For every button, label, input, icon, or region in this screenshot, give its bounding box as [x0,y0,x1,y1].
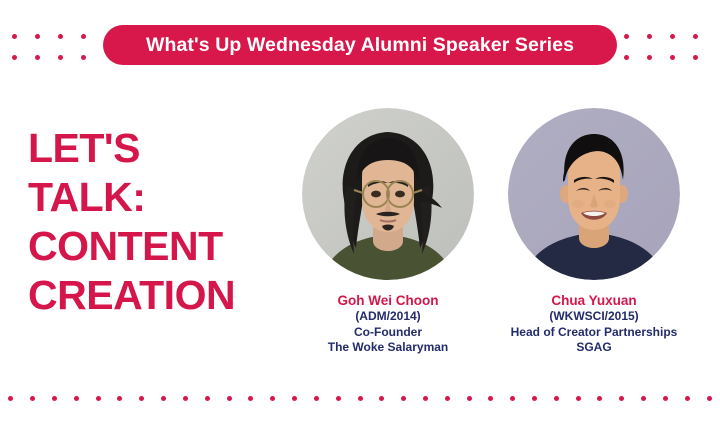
banner-pill: What's Up Wednesday Alumni Speaker Serie… [103,25,617,65]
speaker-list: Goh Wei Choon (ADM/2014) Co-Founder The … [290,108,700,368]
decorative-dot [8,396,13,401]
decorative-dot [30,396,35,401]
decorative-dot [227,396,232,401]
decorative-dot [183,396,188,401]
decorative-dot [576,396,581,401]
page-title: LET'S TALK: CONTENT CREATION [28,124,288,320]
decorative-dot [161,396,166,401]
decorative-dot [488,396,493,401]
decorative-dot [670,55,675,60]
decorative-dot [685,396,690,401]
decorative-dot [58,55,63,60]
dot-row-bottom [0,396,720,408]
speaker-card-2: Chua Yuxuan (WKWSCI/2015) Head of Creato… [496,108,692,356]
decorative-dot [12,55,17,60]
decorative-dot [117,396,122,401]
decorative-dot [624,34,629,39]
headline-line-4: CREATION [28,271,288,320]
decorative-dot [619,396,624,401]
decorative-dot [74,396,79,401]
decorative-dot [670,34,675,39]
decorative-dot [12,34,17,39]
decorative-dot [52,396,57,401]
decorative-dot [597,396,602,401]
decorative-dot [358,396,363,401]
decorative-dot [532,396,537,401]
decorative-dot [693,55,698,60]
decorative-dot [58,34,63,39]
decorative-dot [96,396,101,401]
speaker-affiliation-2: (WKWSCI/2015) [496,309,692,325]
avatar-chua-yuxuan [508,108,680,280]
speaker-affiliation-1: (ADM/2014) [290,309,486,325]
decorative-dot [647,55,652,60]
decorative-dot [81,55,86,60]
decorative-dot [35,34,40,39]
decorative-dot [139,396,144,401]
decorative-dot [423,396,428,401]
headline-line-1: LET'S [28,124,288,173]
speaker-caption-2: Chua Yuxuan (WKWSCI/2015) Head of Creato… [496,292,692,356]
decorative-dot [336,396,341,401]
decorative-dot [445,396,450,401]
speaker-organisation-1: The Woke Salaryman [290,340,486,356]
decorative-dot [401,396,406,401]
speaker-name-1: Goh Wei Choon [290,292,486,309]
headline-line-2: TALK: [28,173,288,222]
decorative-dot [205,396,210,401]
speaker-caption-1: Goh Wei Choon (ADM/2014) Co-Founder The … [290,292,486,356]
decorative-dot [292,396,297,401]
decorative-dot [314,396,319,401]
decorative-dot [467,396,472,401]
speaker-organisation-2: SGAG [496,340,692,356]
decorative-dot [663,396,668,401]
speaker-name-2: Chua Yuxuan [496,292,692,309]
banner-title: What's Up Wednesday Alumni Speaker Serie… [146,34,574,57]
decorative-dot [554,396,559,401]
speaker-card-1: Goh Wei Choon (ADM/2014) Co-Founder The … [290,108,486,356]
decorative-dot [647,34,652,39]
speaker-series-poster: What's Up Wednesday Alumni Speaker Serie… [0,0,720,432]
decorative-dot [379,396,384,401]
decorative-dot [707,396,712,401]
decorative-dot [248,396,253,401]
decorative-dot [624,55,629,60]
portrait-illustration-1 [302,108,474,280]
avatar-goh-wei-choon [302,108,474,280]
headline-line-3: CONTENT [28,222,288,271]
decorative-dot [641,396,646,401]
portrait-illustration-2 [508,108,680,280]
decorative-dot [693,34,698,39]
speaker-role-2: Head of Creator Partnerships [496,325,692,341]
decorative-dot [81,34,86,39]
decorative-dot [510,396,515,401]
speaker-role-1: Co-Founder [290,325,486,341]
decorative-dot [35,55,40,60]
decorative-dot [270,396,275,401]
